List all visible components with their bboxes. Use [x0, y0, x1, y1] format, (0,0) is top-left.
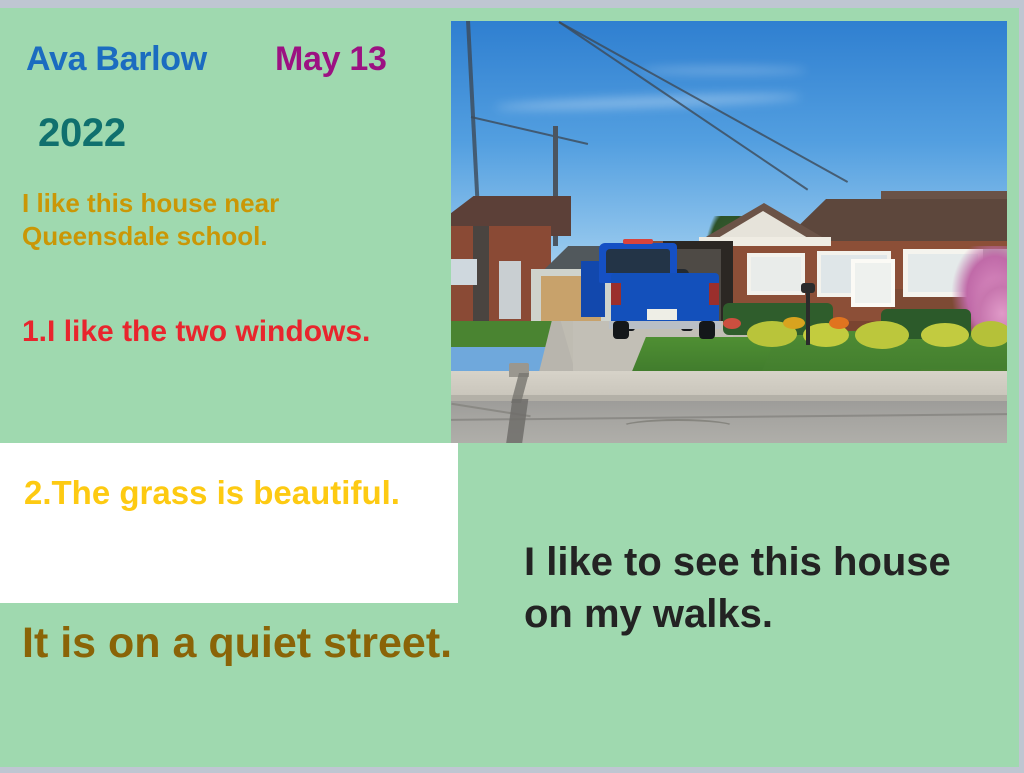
truck-licence-plate — [647, 309, 677, 320]
truck-wheel — [699, 321, 715, 339]
left-house-door — [499, 261, 521, 319]
author-name: Ava Barlow — [26, 40, 207, 79]
house-photo — [451, 21, 1007, 443]
house-bay-window — [851, 259, 895, 307]
truck-tail-light — [709, 283, 719, 305]
truck-brake-light — [623, 239, 653, 244]
list-item-one: 1.I like the two windows. — [22, 313, 442, 351]
house-window — [747, 253, 805, 295]
lamp-post-head — [801, 283, 815, 293]
flower-bed — [723, 318, 741, 329]
year-label: 2022 — [38, 111, 126, 156]
flowering-shrub — [921, 323, 969, 347]
truck-rear-window — [606, 249, 670, 273]
slide-canvas: Ava Barlow May 13 2022 I like this house… — [0, 0, 1024, 773]
flower-bed — [783, 317, 805, 329]
lamp-post — [806, 289, 810, 345]
truck-wheel — [613, 321, 629, 339]
flowering-shrub — [971, 321, 1007, 347]
flower-bed — [829, 317, 849, 329]
road-crack — [621, 419, 735, 435]
quiet-street-sentence: It is on a quiet street. — [22, 616, 492, 671]
slide-background: Ava Barlow May 13 2022 I like this house… — [0, 8, 1019, 767]
white-highlight-panel — [0, 443, 458, 603]
walks-sentence: I like to see this house on my walks. — [524, 536, 994, 640]
asphalt-road — [451, 401, 1007, 443]
intro-sentence: I like this house near Queensdale school… — [22, 187, 422, 254]
left-house-window — [451, 259, 477, 285]
list-item-two: 2.The grass is beautiful. — [24, 472, 444, 515]
truck-tail-light — [611, 283, 621, 305]
date-label: May 13 — [275, 40, 387, 79]
flowering-shrub — [855, 321, 909, 349]
